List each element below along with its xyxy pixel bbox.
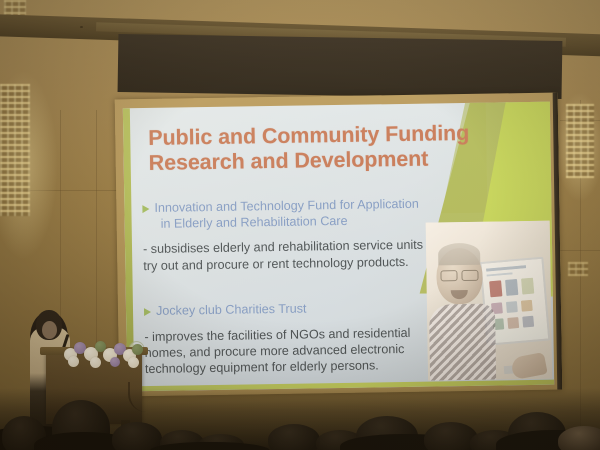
triangle-right-icon xyxy=(142,205,149,213)
flower-arrangement xyxy=(62,338,146,366)
projection-screen: Public and Community Funding Research an… xyxy=(115,93,563,397)
bullet-heading: Jockey club Charities Trust xyxy=(156,302,307,320)
slide-title-line-1: Public and Community Funding xyxy=(148,121,478,151)
slide-bullet-block-1: Innovation and Technology Fund for Appli… xyxy=(142,196,443,274)
bullet-heading-line-2: in Elderly and Rehabilitation Care xyxy=(155,212,420,232)
audience-head xyxy=(112,422,162,450)
bullet-heading: Innovation and Technology Fund for Appli… xyxy=(154,197,419,233)
photo-person-hair xyxy=(438,243,480,266)
bullet-row: Jockey club Charities Trust xyxy=(144,299,444,319)
bullet-detail: - improves the facilities of NGOs and re… xyxy=(144,324,445,378)
elderly-tablet-photo xyxy=(426,221,552,381)
conference-room-scene: Public and Community Funding Research an… xyxy=(0,0,600,450)
screen-valance-housing xyxy=(118,34,563,99)
slide-bullet-block-2: Jockey club Charities Trust - improves t… xyxy=(144,299,445,378)
audience-silhouettes xyxy=(0,388,600,450)
audience-head xyxy=(268,424,320,450)
audience-head xyxy=(558,426,600,450)
bullet-row: Innovation and Technology Fund for Appli… xyxy=(142,196,442,232)
presenter-face xyxy=(42,321,57,339)
bullet-heading-line-1: Jockey club Charities Trust xyxy=(156,302,307,318)
bullet-heading-line-1: Innovation and Technology Fund for Appli… xyxy=(154,197,419,215)
slide-title-line-2: Research and Development xyxy=(148,145,478,175)
crystal-chandelier-right xyxy=(566,104,594,178)
powerpoint-slide: Public and Community Funding Research an… xyxy=(123,102,554,392)
triangle-right-icon xyxy=(144,308,151,316)
crystal-chandelier-right-lower xyxy=(568,262,588,276)
photo-person-body xyxy=(429,304,496,381)
crystal-chandelier-left xyxy=(0,84,30,216)
slide-title: Public and Community Funding Research an… xyxy=(148,121,479,175)
bullet-detail: - subsidises elderly and rehabilitation … xyxy=(143,237,443,274)
photo-person-glasses-icon xyxy=(440,270,478,281)
